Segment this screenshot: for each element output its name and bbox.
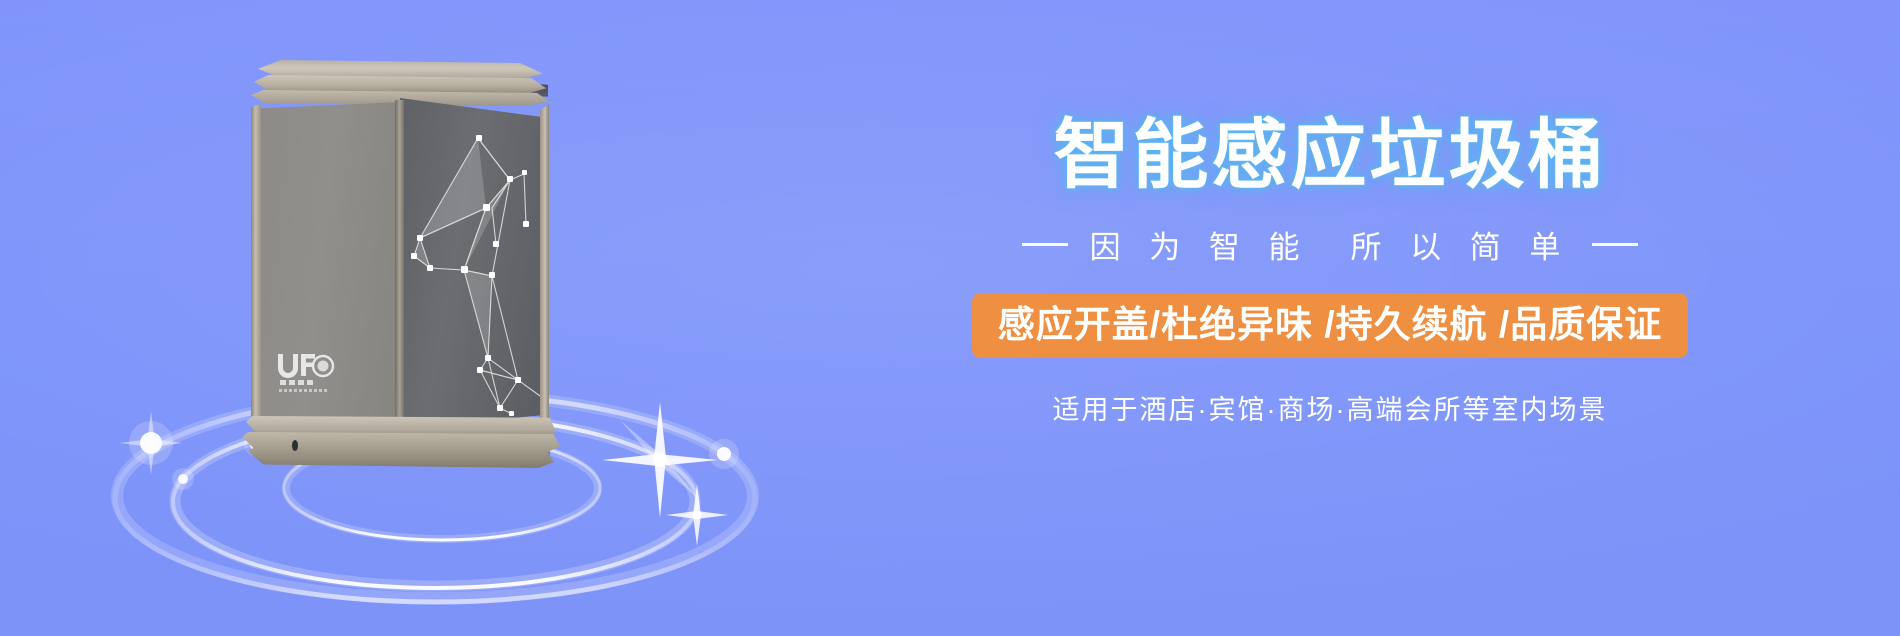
usage-scenario-text: 适用于酒店·宾馆·商场·高端会所等室内场景 xyxy=(880,388,1780,427)
copy-block: 智能感应垃圾桶 因 为 智 能 所 以 简 单 感应开盖/杜绝异味 /持久续航 … xyxy=(880,118,1780,427)
tagline-row: 感应开盖/杜绝异味 /持久续航 /品质保证 xyxy=(880,293,1780,358)
product-trash-bin xyxy=(240,60,560,480)
ufo-logo-icon xyxy=(276,350,336,396)
subtitle-row: 因 为 智 能 所 以 简 单 xyxy=(880,222,1780,267)
feature-tagline-badge: 感应开盖/杜绝异味 /持久续航 /品质保证 xyxy=(972,293,1688,358)
sensor-indicator xyxy=(292,440,298,451)
promo-banner: 智能感应垃圾桶 因 为 智 能 所 以 简 单 感应开盖/杜绝异味 /持久续航 … xyxy=(0,0,1900,636)
subtitle-text: 因 为 智 能 所 以 简 单 xyxy=(1090,222,1571,267)
body-edge-left xyxy=(251,104,261,424)
subtitle-rule-left-icon xyxy=(1022,243,1068,246)
product-stage xyxy=(90,40,790,600)
network-polygon-icon xyxy=(400,108,548,426)
page-title: 智能感应垃圾桶 xyxy=(880,118,1780,194)
subtitle-rule-right-icon xyxy=(1592,243,1638,246)
